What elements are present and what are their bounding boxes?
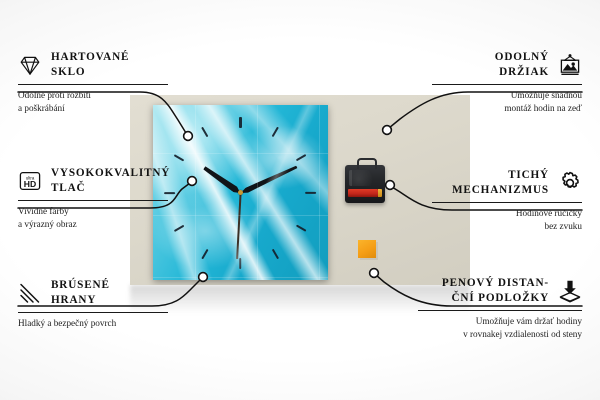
clock-second-hand <box>236 192 241 258</box>
feature-header: HARTOVANÉ SKLO <box>18 50 168 79</box>
feature-header: ultra HD VYSOKOKVALITNÝ TLAČ <box>18 166 168 195</box>
feature-description: Vividné farby a výrazný obraz <box>18 205 168 230</box>
wall-mount-picture-icon <box>558 53 582 77</box>
feature-rule <box>432 202 582 203</box>
feature-high-quality-print: ultra HD VYSOKOKVALITNÝ TLAČ Vividné far… <box>18 166 168 230</box>
feature-header: TICHÝ MECHANIZMUS <box>432 168 582 197</box>
clock-minute-hand <box>239 164 298 195</box>
ultra-hd-icon-main: HD <box>24 179 36 189</box>
feature-header: BRÚSENÉ HRANY <box>18 278 168 307</box>
feature-title: HARTOVANÉ SKLO <box>51 50 129 79</box>
feature-title: TICHÝ MECHANIZMUS <box>452 168 549 197</box>
diamond-icon <box>18 53 42 77</box>
feature-description: Umožňuje vám držať hodiny v rovnakej vzd… <box>418 315 582 340</box>
feature-rule <box>18 200 168 201</box>
feature-title: VYSOKOKVALITNÝ TLAČ <box>51 166 170 195</box>
movement-hanger <box>357 158 377 169</box>
feature-rule <box>18 84 168 85</box>
ultra-hd-icon: ultra HD <box>18 169 42 193</box>
clock-movement-box <box>345 165 385 203</box>
feature-description: Hodinové ručičky bez zvuku <box>432 207 582 232</box>
feature-description: Umožňuje snadnou montáž hodin na zeď <box>432 89 582 114</box>
feature-title: ODOLNÝ DRŽIAK <box>495 50 549 79</box>
feature-description: Hladký a bezpečný povrch <box>18 317 168 330</box>
feature-rule <box>432 84 582 85</box>
product-photo <box>130 95 470 285</box>
feature-title: PENOVÝ DISTAN- ČNÍ PODLOŽKY <box>442 276 549 305</box>
feature-header: PENOVÝ DISTAN- ČNÍ PODLOŽKY <box>418 276 582 305</box>
feature-silent-mechanism: TICHÝ MECHANIZMUS Hodinové ručičky bez z… <box>432 168 582 232</box>
clock-center-pin <box>238 190 243 195</box>
wall-clock-face <box>153 105 328 280</box>
feature-description: Odolné proti rozbití a poškrábání <box>18 89 168 114</box>
feature-durable-holder: ODOLNÝ DRŽIAK Umožňuje snadnou montáž ho… <box>432 50 582 114</box>
movement-emboss <box>349 170 381 186</box>
infographic-canvas: HARTOVANÉ SKLO Odolné proti rozbití a po… <box>0 0 600 400</box>
clock-hour-hand <box>203 165 243 196</box>
battery <box>348 189 378 197</box>
foam-spacer-pad <box>358 240 376 258</box>
gear-icon <box>558 171 582 195</box>
feature-polished-edges: BRÚSENÉ HRANY Hladký a bezpečný povrch <box>18 278 168 330</box>
feature-rule <box>418 310 582 311</box>
feature-title: BRÚSENÉ HRANY <box>51 278 110 307</box>
feature-rule <box>18 312 168 313</box>
feature-foam-spacers: PENOVÝ DISTAN- ČNÍ PODLOŽKY Umožňuje vám… <box>418 276 582 340</box>
diagonal-lines-icon <box>18 281 42 305</box>
feature-tempered-glass: HARTOVANÉ SKLO Odolné proti rozbití a po… <box>18 50 168 114</box>
battery-terminal <box>378 189 382 197</box>
press-down-pad-icon <box>558 279 582 303</box>
feature-header: ODOLNÝ DRŽIAK <box>432 50 582 79</box>
